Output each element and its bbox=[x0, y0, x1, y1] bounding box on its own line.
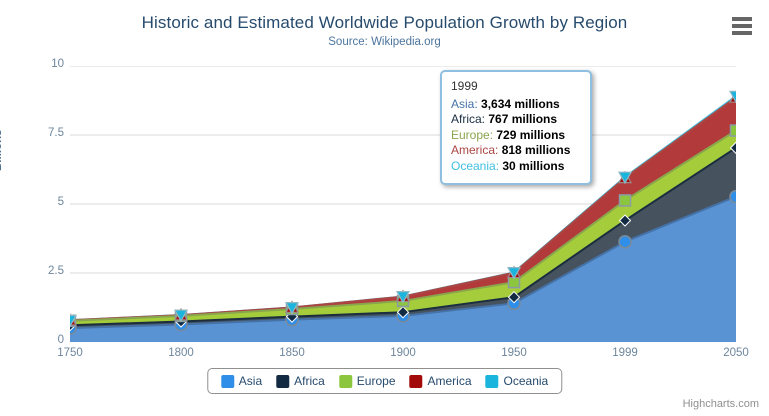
legend-item-oceania[interactable]: Oceania bbox=[486, 374, 549, 388]
x-axis-tick-label: 1800 bbox=[141, 347, 221, 359]
credits-label[interactable]: Highcharts.com bbox=[683, 398, 759, 410]
x-axis-tick-label: 1850 bbox=[252, 347, 332, 359]
x-axis-tick-label: 2050 bbox=[696, 347, 769, 359]
tooltip-row-america: America: 818 millions bbox=[451, 143, 581, 159]
tooltip-series-name: Oceania: bbox=[451, 159, 502, 173]
y-axis-tick-label: 2.5 bbox=[4, 265, 64, 277]
plot-area bbox=[70, 66, 736, 342]
legend-label: America bbox=[428, 374, 472, 388]
x-axis-tick-label: 1999 bbox=[585, 347, 665, 359]
highcharts-chart: Historic and Estimated Worldwide Populat… bbox=[0, 0, 769, 416]
y-axis-tick-label: 7.5 bbox=[4, 127, 64, 139]
tooltip-series-value: 818 millions bbox=[502, 143, 571, 157]
tooltip-series-name: Europe: bbox=[451, 128, 496, 142]
marker-asia-2050 bbox=[730, 191, 736, 203]
chart-title: Historic and Estimated Worldwide Populat… bbox=[0, 13, 769, 33]
tooltip-series-value: 767 millions bbox=[488, 112, 557, 126]
legend-label: Europe bbox=[357, 374, 396, 388]
y-axis-tick-label: 0 bbox=[4, 334, 64, 346]
legend-item-america[interactable]: America bbox=[410, 374, 472, 388]
x-axis-tick-label: 1950 bbox=[474, 347, 554, 359]
chart-tooltip: 1999 Asia: 3,634 millionsAfrica: 767 mil… bbox=[440, 70, 592, 185]
tooltip-series-name: Africa: bbox=[451, 112, 488, 126]
chart-subtitle: Source: Wikipedia.org bbox=[0, 36, 769, 48]
marker-asia-1999 bbox=[619, 236, 631, 248]
hamburger-menu-icon[interactable] bbox=[729, 15, 755, 37]
legend-item-africa[interactable]: Africa bbox=[276, 374, 325, 388]
legend-label: Africa bbox=[294, 374, 325, 388]
tooltip-series-name: America: bbox=[451, 143, 502, 157]
tooltip-series-value: 3,634 millions bbox=[481, 97, 560, 111]
legend-label: Oceania bbox=[504, 374, 549, 388]
tooltip-row-oceania: Oceania: 30 millions bbox=[451, 159, 581, 175]
legend-swatch-america bbox=[410, 375, 423, 388]
x-axis-tick-label: 1900 bbox=[363, 347, 443, 359]
legend-swatch-europe bbox=[339, 375, 352, 388]
tooltip-row-asia: Asia: 3,634 millions bbox=[451, 97, 581, 113]
legend-swatch-oceania bbox=[486, 375, 499, 388]
tooltip-row-africa: Africa: 767 millions bbox=[451, 112, 581, 128]
legend-swatch-asia bbox=[221, 375, 234, 388]
tooltip-rows: Asia: 3,634 millionsAfrica: 767 millions… bbox=[451, 97, 581, 175]
tooltip-series-value: 30 millions bbox=[502, 159, 564, 173]
legend-item-asia[interactable]: Asia bbox=[221, 374, 262, 388]
plot-svg bbox=[70, 66, 736, 342]
tooltip-series-value: 729 millions bbox=[496, 128, 565, 142]
tooltip-header: 1999 bbox=[451, 79, 581, 97]
chart-legend: AsiaAfricaEuropeAmericaOceania bbox=[207, 368, 562, 394]
legend-swatch-africa bbox=[276, 375, 289, 388]
legend-item-europe[interactable]: Europe bbox=[339, 374, 396, 388]
hamburger-bar bbox=[732, 17, 752, 21]
marker-europe-2050 bbox=[731, 125, 737, 136]
x-axis-tick-label: 1750 bbox=[30, 347, 110, 359]
y-axis-title: Billions bbox=[0, 129, 4, 171]
marker-europe-1999 bbox=[620, 195, 631, 206]
y-axis-tick-label: 10 bbox=[4, 58, 64, 70]
legend-label: Asia bbox=[239, 374, 262, 388]
tooltip-series-name: Asia: bbox=[451, 97, 481, 111]
tooltip-row-europe: Europe: 729 millions bbox=[451, 128, 581, 144]
hamburger-bar bbox=[732, 24, 752, 28]
y-axis-tick-label: 5 bbox=[4, 196, 64, 208]
hamburger-bar bbox=[732, 31, 752, 35]
